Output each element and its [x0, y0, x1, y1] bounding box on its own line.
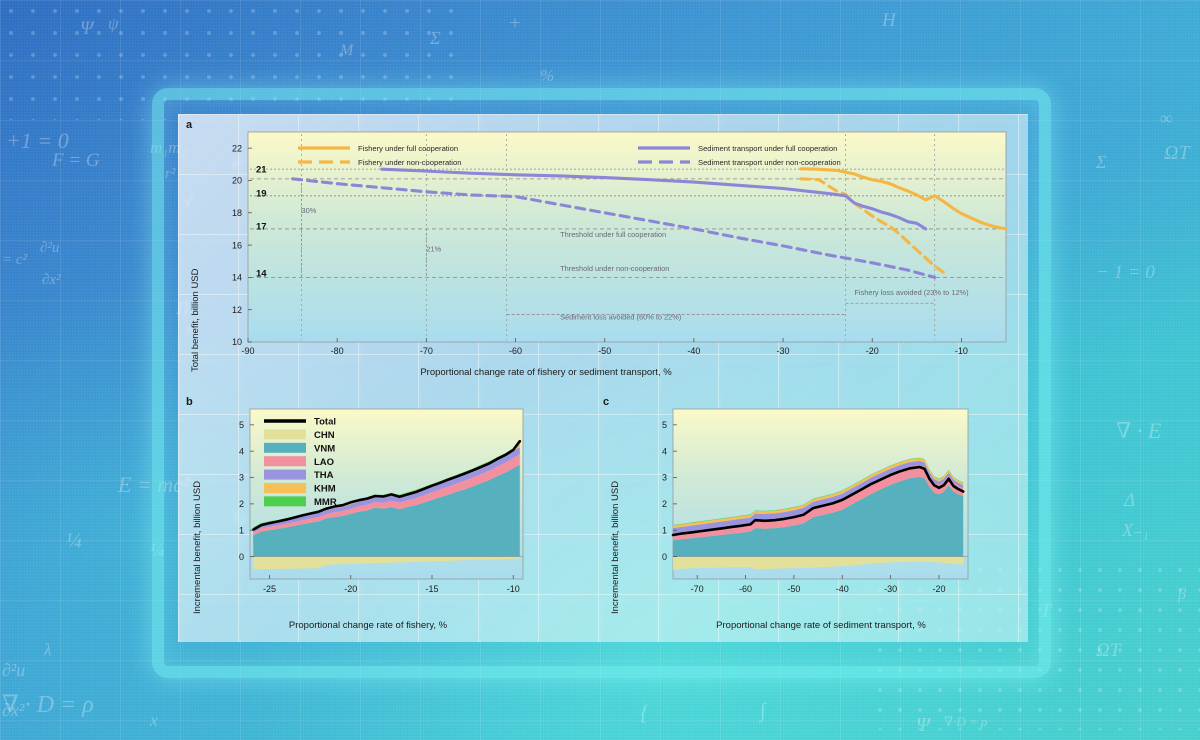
svg-text:10: 10 [232, 337, 242, 347]
svg-text:12: 12 [232, 305, 242, 315]
svg-text:-50: -50 [787, 584, 800, 594]
svg-text:-60: -60 [509, 346, 522, 356]
svg-text:-50: -50 [598, 346, 611, 356]
svg-text:22: 22 [232, 143, 242, 153]
panel-a-xlabel: Proportional change rate of fishery or s… [296, 367, 796, 378]
svg-text:-60: -60 [739, 584, 752, 594]
svg-text:30%: 30% [302, 206, 317, 215]
svg-text:-40: -40 [687, 346, 700, 356]
svg-text:Sediment loss avoided (60% to: Sediment loss avoided (60% to 22%) [560, 312, 681, 321]
svg-text:-30: -30 [777, 346, 790, 356]
screenshot-root: +1 = 0F = Gm₁m₂r²i²√H= c²∂²u∂x²ΠnE = mc²… [0, 0, 1200, 740]
svg-text:0: 0 [662, 552, 667, 562]
svg-text:-70: -70 [691, 584, 704, 594]
svg-text:3: 3 [662, 473, 667, 483]
svg-text:-20: -20 [866, 346, 879, 356]
panel-c-plot: 012345-70-60-50-40-30-20 [178, 389, 1028, 639]
svg-text:-10: -10 [955, 346, 968, 356]
panel-a-plot: 10121416182022-90-80-70-60-50-40-30-20-1… [178, 114, 1028, 364]
svg-text:Threshold under full cooperati: Threshold under full cooperation [560, 230, 666, 239]
svg-text:5: 5 [662, 420, 667, 430]
svg-text:Threshold under non-cooperatio: Threshold under non-cooperation [560, 264, 669, 273]
svg-text:14: 14 [256, 269, 267, 280]
svg-text:2: 2 [662, 499, 667, 509]
svg-text:4: 4 [662, 446, 667, 456]
svg-text:21%: 21% [426, 245, 441, 254]
svg-text:21: 21 [256, 164, 267, 175]
svg-text:19: 19 [256, 189, 267, 200]
svg-text:18: 18 [232, 208, 242, 218]
svg-text:-80: -80 [331, 346, 344, 356]
svg-text:20: 20 [232, 176, 242, 186]
svg-text:-70: -70 [420, 346, 433, 356]
svg-text:-20: -20 [932, 584, 945, 594]
svg-text:Fishery loss avoided (23% to 1: Fishery loss avoided (23% to 12%) [854, 288, 968, 297]
svg-text:14: 14 [232, 273, 242, 283]
svg-text:17: 17 [256, 222, 267, 233]
svg-text:Fishery under full cooperation: Fishery under full cooperation [358, 144, 458, 153]
svg-text:-40: -40 [836, 584, 849, 594]
svg-text:Sediment transport under non-c: Sediment transport under non-cooperation [698, 158, 841, 167]
svg-text:Fishery under non-cooperation: Fishery under non-cooperation [358, 158, 461, 167]
svg-text:Sediment transport under full: Sediment transport under full cooperatio… [698, 144, 837, 153]
svg-text:1: 1 [662, 525, 667, 535]
svg-text:-90: -90 [241, 346, 254, 356]
svg-text:-30: -30 [884, 584, 897, 594]
svg-text:16: 16 [232, 240, 242, 250]
scientific-figure: a Total benefit, billion USD Proportiona… [178, 114, 1028, 642]
